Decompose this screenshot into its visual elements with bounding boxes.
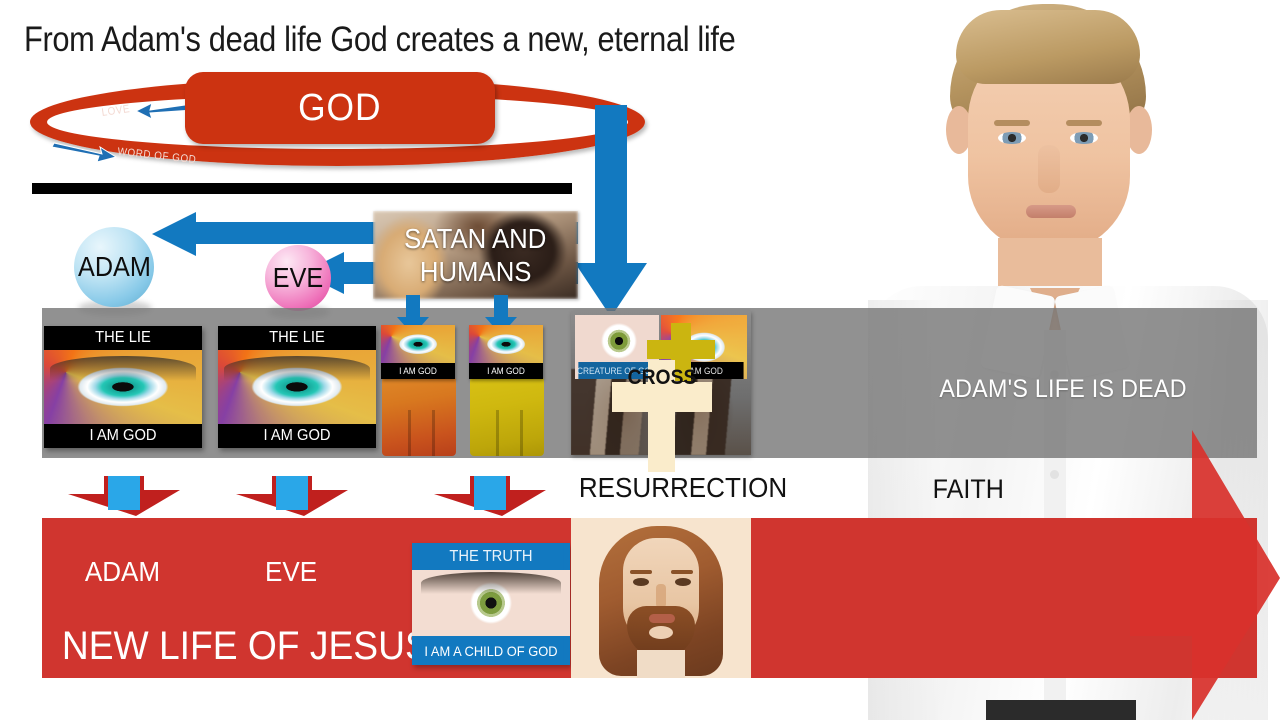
small-lie-tile-2-caption: I AM GOD <box>472 363 540 379</box>
portrait-eye-right <box>1070 132 1098 144</box>
eye-iris <box>392 331 444 358</box>
lie-tile-eve-eye-image <box>218 350 376 424</box>
transition-arrow-eve-icon <box>232 474 352 518</box>
satan-humans-line2: HUMANS <box>420 255 532 288</box>
small-lie-tile-2: I AM GOD <box>469 325 543 379</box>
figure-leg-left <box>408 410 411 456</box>
jesus-mouth <box>649 614 675 623</box>
portrait-eye-left <box>998 132 1026 144</box>
small-tile-eye-image <box>469 325 543 363</box>
portrait-fringe <box>956 10 1140 84</box>
human-figure-yellow <box>470 372 544 456</box>
lie-tile-eve-bottom-caption: I AM GOD <box>224 424 369 448</box>
portrait-mouth <box>1026 205 1076 218</box>
lie-tile-adam: THE LIE I AM GOD <box>44 326 202 448</box>
shirt-button <box>1050 470 1059 479</box>
jesus-eyebrow-left <box>630 570 652 574</box>
lie-tile-adam-top-caption: THE LIE <box>50 326 195 350</box>
god-cycle-diagram: LOVE FRUIT WORD OF GOD GOD <box>30 78 650 178</box>
truth-tile: THE TRUTH I AM A CHILD OF GOD <box>412 543 570 665</box>
adam-sphere: ADAM <box>74 227 154 307</box>
jesus-eye-right <box>675 578 691 586</box>
god-box-label: GOD <box>298 87 381 130</box>
satan-humans-line1: SATAN AND <box>404 222 546 255</box>
truth-tile-eye-image <box>412 570 570 636</box>
truth-tile-bottom-caption: I AM A CHILD OF GOD <box>418 636 563 665</box>
small-lie-tile-1-caption: I AM GOD <box>384 363 452 379</box>
god-box: GOD <box>185 72 495 144</box>
portrait-eyebrow-left <box>994 120 1030 126</box>
small-tile-eye-image <box>381 325 455 363</box>
jesus-chin <box>649 626 673 639</box>
portrait-eyebrow-right <box>1066 120 1102 126</box>
portrait-nose <box>1038 145 1060 193</box>
satan-humans-caption: SATAN AND HUMANS <box>373 211 578 299</box>
lie-tile-adam-bottom-caption: I AM GOD <box>50 424 195 448</box>
figure-leg-right <box>520 410 523 456</box>
resurrection-label: RESURRECTION <box>579 472 787 504</box>
faith-label: FAITH <box>933 474 1004 505</box>
faith-forward-red-arrow-icon <box>1130 430 1280 720</box>
new-life-of-jesus-label: NEW LIFE OF JESUS <box>62 624 430 669</box>
eye-iris <box>480 331 532 358</box>
slide-title: From Adam's dead life God creates a new,… <box>24 18 735 62</box>
adam-sphere-label: ADAM <box>78 251 151 283</box>
figure-leg-right <box>432 410 435 456</box>
eve-sphere-label: EVE <box>273 262 323 294</box>
jesus-portrait-panel <box>571 518 751 678</box>
figure-leg-left <box>496 410 499 456</box>
jesus-neck <box>637 650 685 678</box>
jesus-eyebrow-right <box>671 570 693 574</box>
eve-sphere: EVE <box>265 245 331 311</box>
human-figure-orange <box>382 372 456 456</box>
eye-lashes <box>421 572 560 594</box>
black-separator-bar <box>32 183 572 194</box>
word-of-god-arrow-icon <box>50 138 120 164</box>
god-to-cross-down-arrow-icon <box>573 105 649 320</box>
lie-tile-eve: THE LIE I AM GOD <box>218 326 376 448</box>
eye-lid <box>50 356 195 381</box>
figure-body <box>470 372 544 456</box>
lie-tile-eve-top-caption: THE LIE <box>224 326 369 350</box>
figure-body <box>382 372 456 456</box>
bottom-eve-label: EVE <box>265 556 317 588</box>
lie-tile-adam-eye-image <box>44 350 202 424</box>
portrait-belt <box>986 700 1136 720</box>
truth-tile-top-caption: THE TRUTH <box>418 543 563 570</box>
slide-canvas: From Adam's dead life God creates a new,… <box>0 0 1280 720</box>
cross-label: CROSS <box>605 364 719 392</box>
transition-arrow-figures-icon <box>430 474 550 518</box>
jesus-eye-left <box>633 578 649 586</box>
jesus-nose <box>656 584 666 608</box>
adams-life-is-dead-label: ADAM'S LIFE IS DEAD <box>939 375 1186 404</box>
transition-arrow-adam-icon <box>64 474 184 518</box>
satan-and-humans-panel: SATAN AND HUMANS <box>373 211 578 299</box>
bottom-adam-label: ADAM <box>85 556 160 588</box>
small-lie-tile-1: I AM GOD <box>381 325 455 379</box>
eye-lid <box>224 356 369 381</box>
